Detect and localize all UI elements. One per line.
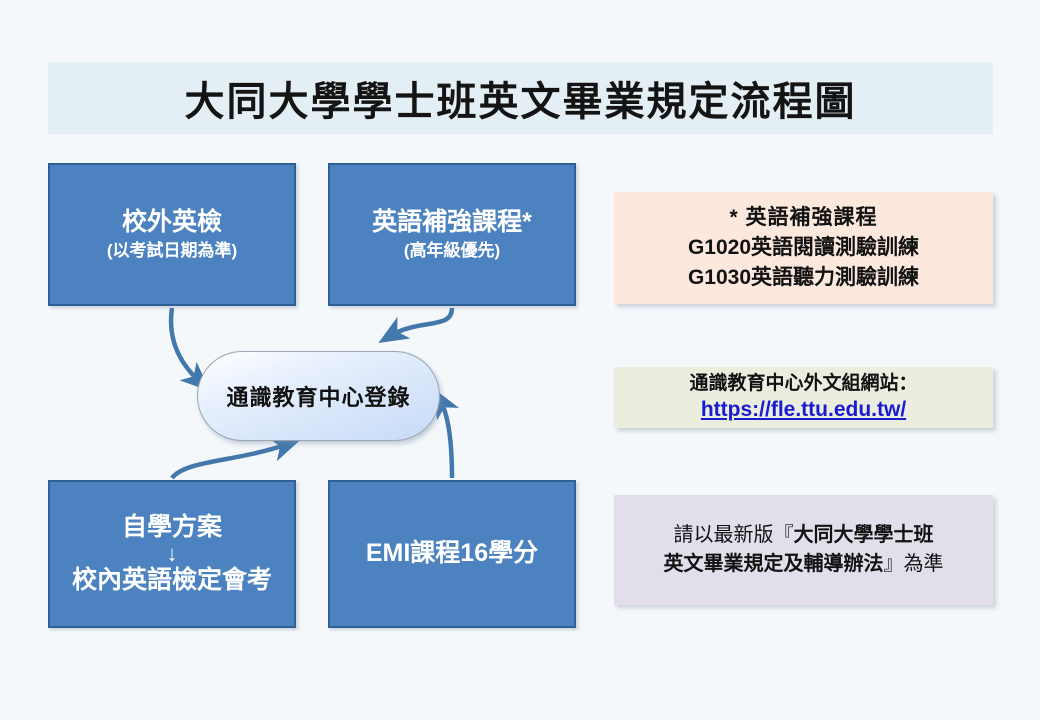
- arrow-emi-to-center: [440, 400, 452, 478]
- arrow-remedial-to-center: [390, 308, 452, 336]
- arrow-external-to-center: [171, 308, 200, 382]
- flow-box-external-exam-title: 校外英檢: [122, 207, 222, 238]
- flow-node-center-registration[interactable]: 通識教育中心登錄: [197, 351, 440, 441]
- flow-box-self-study-line1: 自學方案: [122, 513, 222, 542]
- note-regulation-line-2: 英文畢業規定及輔導辦法』為準: [664, 550, 944, 579]
- note-remedial-line-3: G1030英語聽力測驗訓練: [688, 263, 919, 293]
- title-banner: 大同大學學士班英文畢業規定流程圖: [48, 62, 993, 134]
- flow-box-self-study[interactable]: 自學方案 ↓ 校內英語檢定會考: [48, 480, 296, 628]
- flow-box-remedial-course-title: 英語補強課程*: [372, 207, 532, 238]
- note-remedial-line-2: G1020英語閱讀測驗訓練: [688, 233, 919, 263]
- page-title: 大同大學學士班英文畢業規定流程圖: [185, 69, 857, 127]
- note-website-label: 通識教育中心外文組網站：: [689, 372, 917, 397]
- flow-box-external-exam-subtitle: (以考試日期為準): [107, 240, 237, 262]
- note-regulation-line-1-emph: 大同大學學士班: [794, 524, 934, 546]
- flow-node-center-registration-label: 通識教育中心登錄: [226, 380, 410, 412]
- note-regulation-line-1-plain: 請以最新版『: [674, 524, 794, 546]
- note-card-regulation: 請以最新版『大同大學學士班 英文畢業規定及輔導辦法』為準: [614, 495, 993, 605]
- diagram-canvas: 大同大學學士班英文畢業規定流程圖 校外英檢 (以考試日期為準) 英語補強課程* …: [0, 0, 1040, 720]
- flow-box-emi-course[interactable]: EMI課程16學分: [328, 480, 576, 628]
- flow-box-remedial-course-subtitle: (高年級優先): [404, 240, 500, 262]
- note-regulation-line-1: 請以最新版『大同大學學士班: [674, 521, 934, 550]
- website-link[interactable]: https://fle.ttu.edu.tw/: [701, 396, 906, 423]
- note-regulation-line-2-emph: 英文畢業規定及輔導辦法: [664, 553, 884, 575]
- down-arrow-icon: ↓: [167, 542, 178, 566]
- arrow-selfstudy-to-center: [172, 444, 288, 478]
- note-card-remedial-courses: * 英語補強課程 G1020英語閱讀測驗訓練 G1030英語聽力測驗訓練: [614, 192, 993, 304]
- note-regulation-line-2-plain: 』為準: [884, 553, 944, 575]
- flow-box-remedial-course[interactable]: 英語補強課程* (高年級優先): [328, 163, 576, 306]
- note-remedial-line-1: * 英語補強課程: [729, 203, 877, 233]
- flow-box-external-exam[interactable]: 校外英檢 (以考試日期為準): [48, 163, 296, 306]
- flow-box-emi-course-title: EMI課程16學分: [366, 538, 538, 569]
- flow-box-self-study-line2: 校內英語檢定會考: [72, 566, 272, 595]
- note-card-website: 通識教育中心外文組網站： https://fle.ttu.edu.tw/: [614, 367, 993, 428]
